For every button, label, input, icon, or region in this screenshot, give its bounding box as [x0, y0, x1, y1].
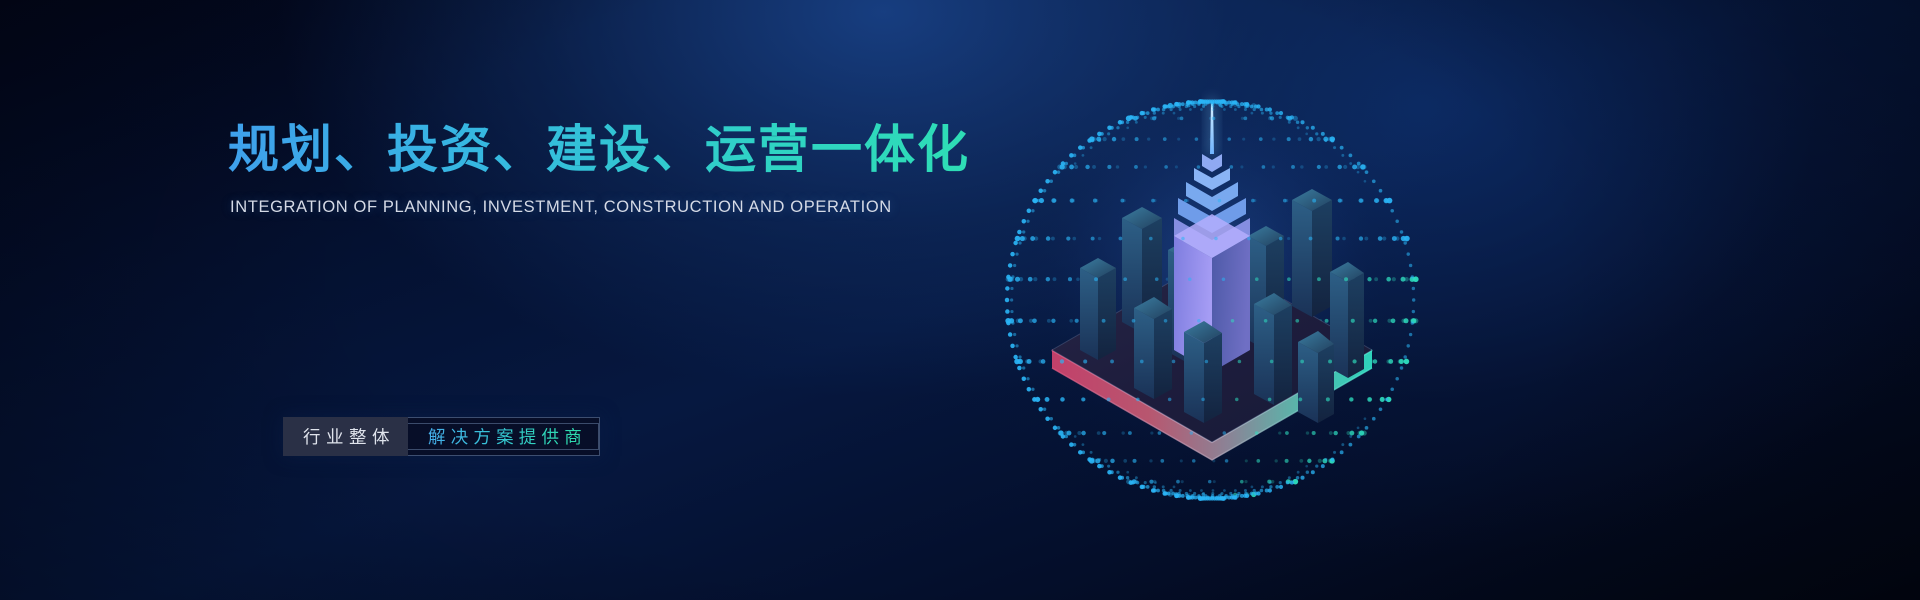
globe-dot [1037, 398, 1040, 401]
hero-copy-block: 规划、投资、建设、运营一体化 INTEGRATION OF PLANNING, … [228, 120, 1068, 217]
globe-dot [1057, 426, 1061, 430]
globe-dot [1309, 137, 1313, 141]
globe-dot [1244, 492, 1248, 496]
globe-dot [1144, 481, 1147, 484]
globe-dot [1123, 459, 1127, 463]
globe-dot [1028, 277, 1033, 282]
globe-dot [1033, 277, 1037, 281]
globe-dot [1261, 112, 1264, 115]
globe-dot [1097, 464, 1102, 469]
status-badge-right-frame: 解决方案提供商 [408, 417, 600, 456]
globe-dot [1224, 102, 1228, 106]
globe-dot [1412, 298, 1415, 301]
globe-dot [1162, 104, 1167, 109]
globe-dot [1151, 199, 1155, 203]
page-subtitle: INTEGRATION OF PLANNING, INVESTMENT, CON… [230, 198, 1068, 217]
globe-dot [1212, 489, 1215, 492]
globe-dot [1256, 459, 1260, 463]
globe-dot [1275, 459, 1278, 462]
globe-dot [1270, 360, 1274, 364]
globe-dot [1120, 199, 1124, 203]
status-badge[interactable]: 行业整体 解决方案提供商 [283, 417, 600, 456]
globe-dot [1333, 146, 1336, 149]
globe-dot [1174, 102, 1179, 107]
globe-dot [1312, 199, 1316, 203]
globe-dot [1119, 237, 1123, 241]
globe-dot [1129, 480, 1134, 485]
globe-dot [1329, 431, 1333, 435]
globe-dot [1385, 199, 1389, 203]
globe-dot [1240, 102, 1244, 106]
globe-dot [1285, 431, 1289, 435]
globe-dot [1077, 431, 1081, 435]
globe-dot [1051, 237, 1055, 241]
globe-dot [1129, 115, 1134, 120]
globe-dot [1098, 237, 1101, 240]
globe-dot [1189, 489, 1192, 492]
globe-dot [1407, 252, 1410, 255]
globe-dot [1385, 398, 1389, 402]
globe-dot [1365, 426, 1369, 430]
globe-dot [1107, 397, 1111, 401]
globe-dot [1324, 165, 1328, 169]
globe-dot [1250, 492, 1254, 496]
globe-dot [1160, 459, 1164, 463]
globe-dot [1011, 275, 1014, 278]
globe-dot [1338, 198, 1342, 202]
globe-dot [1265, 489, 1269, 493]
globe-dot [1026, 377, 1029, 380]
globe-dot [1198, 496, 1203, 501]
globe-dot [1283, 199, 1287, 203]
globe-dot [1045, 397, 1050, 402]
globe-dot [1269, 481, 1272, 484]
globe-dot [1015, 277, 1020, 282]
globe-dot [1240, 480, 1244, 484]
globe-dot [1031, 388, 1034, 391]
globe-dot [1027, 209, 1032, 214]
globe-dot [1107, 465, 1110, 468]
globe-dot [1411, 321, 1414, 324]
globe-dot [1177, 138, 1180, 141]
globe-dot [1260, 489, 1264, 493]
globe-city-illustration [962, 50, 1462, 550]
globe-dot [1093, 199, 1097, 203]
globe-dot [1107, 132, 1110, 135]
globe-dot [1379, 407, 1383, 411]
globe-dot [1269, 111, 1272, 114]
globe-dot [1031, 209, 1034, 212]
globe-dot [1200, 108, 1203, 111]
globe-dot [1349, 397, 1353, 401]
globe-dot [1260, 108, 1264, 112]
globe-dot [1407, 344, 1410, 347]
globe-dot [1151, 488, 1156, 493]
globe-dot [1010, 287, 1013, 290]
globe-dot [1333, 431, 1337, 435]
globe-dot [1015, 236, 1021, 242]
globe-dot [1074, 162, 1077, 165]
globe-dot [1074, 435, 1077, 438]
globe-dot [1078, 450, 1083, 455]
globe-dot [1297, 126, 1300, 129]
globe-dot [1170, 108, 1173, 111]
page-title: 规划、投资、建设、运营一体化 [228, 120, 1068, 180]
globe-dot [1103, 137, 1107, 141]
globe-dot [1318, 459, 1322, 463]
globe-dot [1186, 495, 1191, 500]
globe-dot [1395, 377, 1399, 381]
globe-dot [1047, 319, 1051, 323]
globe-dot [1349, 443, 1353, 447]
globe-dot [1296, 121, 1300, 125]
globe-dot [1218, 199, 1222, 203]
globe-dot [1349, 435, 1352, 438]
globe-dot [1164, 165, 1168, 169]
globe-dot [1107, 470, 1112, 475]
status-badge-left-label: 行业整体 [283, 417, 408, 456]
globe-dot [1110, 360, 1114, 364]
globe-dot [1144, 116, 1147, 119]
globe-dot [1069, 442, 1074, 447]
globe-dot [1022, 377, 1027, 382]
globe-dot [1010, 252, 1015, 257]
globe-dot [1341, 443, 1344, 446]
globe-dot [1317, 137, 1321, 141]
globe-dot [1069, 319, 1073, 323]
globe-dot [1070, 198, 1074, 202]
globe-dot [1039, 188, 1044, 193]
globe-dot [1085, 165, 1089, 169]
globe-dot [1018, 318, 1023, 323]
globe-dot [1078, 145, 1083, 150]
globe-dot [1317, 277, 1321, 281]
globe-dot [1244, 480, 1247, 483]
globe-dot [1244, 489, 1247, 492]
globe-dot [1118, 475, 1123, 480]
globe-dot [1234, 489, 1237, 492]
globe-dot [1126, 126, 1129, 129]
globe-dot [1328, 359, 1332, 363]
globe-dot [1214, 237, 1218, 241]
globe-dot [1227, 137, 1231, 141]
globe-dot [1173, 486, 1176, 489]
globe-dot [1351, 319, 1355, 323]
globe-dot [1126, 121, 1129, 124]
globe-dot [1097, 431, 1101, 435]
globe-dot [1288, 476, 1291, 479]
globe-dot [1005, 298, 1010, 303]
globe-dot [1275, 111, 1279, 115]
globe-dot [1321, 464, 1325, 468]
globe-dot [1202, 492, 1205, 495]
globe-dot [1374, 198, 1379, 203]
globe-dot [1046, 236, 1051, 241]
globe-dot [1315, 465, 1318, 468]
globe-dot [1222, 277, 1226, 281]
globe-dot [1010, 344, 1015, 349]
globe-dot [1244, 117, 1248, 121]
globe-dot [1126, 471, 1129, 474]
globe-dot [1298, 137, 1302, 141]
globe-dot [1041, 359, 1046, 364]
globe-dot [1305, 133, 1308, 136]
globe-dot [1150, 431, 1153, 434]
globe-dot [1053, 277, 1057, 281]
globe-dot [1269, 116, 1272, 119]
globe-dot [1205, 360, 1209, 364]
globe-dot [1181, 237, 1185, 241]
status-badge-right-label: 解决方案提供商 [408, 423, 599, 450]
globe-dot [1032, 198, 1037, 203]
globe-dot [1039, 407, 1044, 412]
globe-dot [1223, 108, 1226, 111]
globe-dot [1343, 165, 1347, 169]
building-front-left [1134, 297, 1172, 399]
globe-dot [1373, 319, 1377, 323]
globe-dot [1379, 189, 1383, 193]
globe-dot [1295, 319, 1299, 323]
globe-dot [1333, 451, 1336, 454]
globe-dot [1341, 154, 1344, 157]
globe-dot [1144, 165, 1147, 168]
globe-dot [1200, 489, 1203, 492]
building-front-far-right [1298, 331, 1334, 423]
globe-dot [1262, 165, 1266, 169]
globe-dot [1010, 310, 1013, 313]
globe-dot [1269, 485, 1272, 488]
globe-dot [1336, 237, 1340, 241]
globe-dot [1237, 492, 1240, 495]
globe-dot [1279, 237, 1283, 241]
globe-dot [1403, 355, 1406, 358]
globe-dot [1132, 319, 1136, 323]
globe-dot [1372, 179, 1376, 183]
globe-dot [1400, 366, 1403, 369]
globe-dot [1146, 111, 1150, 115]
globe-dot [1388, 359, 1393, 364]
globe-dot [1344, 277, 1348, 281]
globe-dot [1136, 116, 1140, 120]
globe-dot [1087, 138, 1092, 143]
globe-dot [1324, 139, 1327, 142]
globe-dot [1218, 494, 1221, 497]
globe-dot [1300, 476, 1304, 480]
globe-dot [1374, 277, 1378, 281]
globe-dot [1372, 417, 1376, 421]
globe-dot [1230, 165, 1234, 169]
globe-dot [1364, 180, 1367, 183]
globe-dot [1022, 366, 1025, 369]
globe-dot [1170, 489, 1173, 492]
globe-dot [1136, 481, 1140, 485]
globe-dot [1092, 165, 1096, 169]
globe-dot [1116, 165, 1119, 168]
globe-dot [1253, 108, 1256, 111]
globe-dot [1244, 105, 1248, 109]
globe-dot [1097, 132, 1102, 137]
globe-dot [1149, 480, 1153, 484]
globe-dot [1211, 492, 1214, 495]
globe-dot [1074, 165, 1078, 169]
globe-dot [1306, 471, 1309, 474]
globe-dot [1006, 321, 1011, 326]
globe-dot [1076, 277, 1080, 281]
globe-dot [1299, 459, 1303, 463]
globe-dot [1136, 398, 1140, 402]
globe-dot [1090, 146, 1093, 149]
globe-dot [1279, 116, 1282, 119]
globe-dot [1022, 219, 1027, 224]
globe-dot [1259, 137, 1263, 141]
globe-dot [1261, 485, 1264, 488]
globe-dot [1367, 397, 1372, 402]
globe-dot [1179, 489, 1182, 492]
globe-dot [1403, 241, 1406, 244]
globe-dot [1156, 489, 1160, 493]
globe-dot [1238, 360, 1242, 364]
globe-dot [1140, 485, 1145, 490]
globe-dot [1072, 237, 1076, 241]
hero-banner: 规划、投资、建设、运营一体化 INTEGRATION OF PLANNING, … [0, 0, 1920, 600]
globe-dot [1326, 397, 1330, 401]
globe-dot [1392, 277, 1396, 281]
globe-dot [1197, 319, 1201, 323]
globe-dot [1126, 476, 1129, 479]
globe-dot [1164, 319, 1168, 323]
globe-dot [1403, 318, 1408, 323]
globe-dot [1251, 112, 1254, 115]
globe-dot [1027, 387, 1032, 392]
globe-dot [1069, 153, 1074, 158]
globe-dot [1154, 481, 1157, 484]
globe-dot [1287, 277, 1291, 281]
globe-dot [1311, 470, 1315, 474]
globe-dot [1365, 170, 1369, 174]
globe-dot [1045, 416, 1050, 421]
globe-dot [1382, 236, 1386, 240]
globe-dot [1309, 237, 1313, 241]
globe-dot [1279, 485, 1283, 489]
globe-dot [1060, 359, 1064, 363]
globe-dot [1017, 230, 1022, 235]
globe-dot [1081, 397, 1085, 401]
globe-dot [1337, 165, 1342, 170]
globe-dot [1133, 459, 1137, 463]
globe-dot [1017, 366, 1022, 371]
globe-dot [1224, 494, 1228, 498]
globe-dot [1107, 165, 1111, 169]
globe-dot [1008, 332, 1013, 337]
globe-dot [1189, 108, 1192, 111]
globe-dot [1032, 397, 1037, 402]
globe-dot [1153, 111, 1156, 114]
globe-dot [1401, 236, 1406, 241]
globe-dot [1027, 359, 1032, 364]
globe-dot [1208, 480, 1212, 484]
globe-dot [1180, 117, 1184, 121]
globe-dot [1032, 318, 1037, 323]
globe-dot [1050, 417, 1053, 420]
globe-dot [1212, 108, 1215, 111]
globe-dot [1409, 333, 1412, 336]
globe-dot [1176, 480, 1180, 484]
globe-dot [1107, 126, 1112, 131]
globe-dot [1279, 481, 1282, 484]
globe-dot [1297, 471, 1300, 474]
globe-dot [1091, 237, 1095, 241]
globe-dot [1110, 459, 1114, 463]
globe-dot [1013, 241, 1018, 246]
globe-dot [1112, 137, 1116, 141]
globe-dot [1399, 359, 1404, 364]
globe-dot [1251, 486, 1254, 489]
globe-dot [1300, 120, 1304, 124]
globe-dot [1057, 170, 1061, 174]
globe-dot [1288, 121, 1291, 124]
globe-dot [1005, 286, 1010, 291]
globe-dot [1369, 319, 1373, 323]
globe-dot [1045, 179, 1050, 184]
globe-dot [1030, 236, 1035, 241]
globe-dot [1240, 165, 1243, 168]
globe-dot [1325, 319, 1329, 323]
globe-dot [1298, 398, 1302, 402]
globe-dot [1005, 309, 1010, 314]
globe-dot [1367, 277, 1371, 281]
globe-dot [1135, 476, 1138, 479]
globe-dot [1223, 489, 1226, 492]
globe-dot [1400, 230, 1403, 233]
globe-dot [1287, 137, 1291, 141]
globe-dot [1364, 237, 1368, 241]
globe-dot [1412, 310, 1415, 313]
globe-dot [1053, 170, 1058, 175]
globe-dot [1098, 458, 1101, 461]
globe-dot [1026, 220, 1029, 223]
building-front-center [1184, 321, 1222, 423]
globe-dot [1321, 132, 1325, 136]
globe-dot [1051, 198, 1056, 203]
globe-dot [1140, 111, 1145, 116]
globe-dot [1061, 434, 1066, 439]
globe-dot [1306, 126, 1309, 129]
globe-dot [1220, 105, 1223, 108]
globe-dot [1286, 481, 1290, 485]
globe-dot [1350, 431, 1355, 436]
globe-dot [1331, 458, 1335, 462]
globe-dot [1237, 105, 1240, 108]
globe-dot [1342, 237, 1346, 241]
globe-dot [1286, 116, 1290, 120]
globe-dot [1390, 209, 1394, 213]
globe-dot [1163, 137, 1167, 141]
globe-dot [1242, 138, 1245, 141]
globe-dot [1013, 333, 1016, 336]
globe-dot [1285, 459, 1289, 463]
globe-dot [1066, 236, 1070, 240]
globe-dot [1359, 430, 1364, 435]
globe-dot [1198, 99, 1203, 104]
globe-dot [1149, 237, 1153, 241]
globe-dot [1162, 485, 1165, 488]
globe-dot [1069, 165, 1074, 170]
globe-dot [1154, 116, 1157, 119]
globe-dot [1098, 139, 1101, 142]
globe-dot [1247, 237, 1251, 241]
globe-dot [1255, 431, 1259, 435]
building-front-right [1254, 293, 1292, 405]
